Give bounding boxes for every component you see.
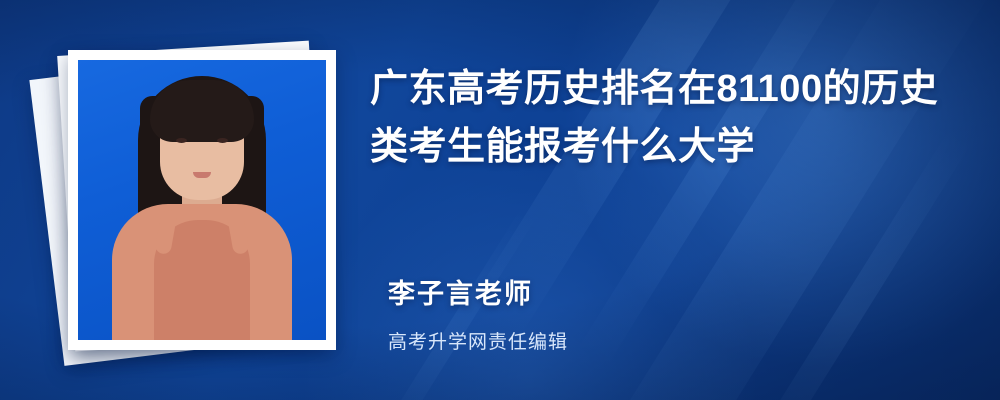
figure-eye-right (217, 138, 228, 143)
portrait-figure (78, 60, 326, 340)
portrait-photo (78, 60, 326, 340)
headline-line-2: 类考生能报考什么大学 (370, 118, 966, 176)
photo-stack (40, 32, 340, 362)
figure-eye-left (176, 138, 187, 143)
photo-card-front (68, 50, 336, 350)
author-block: 李子言老师 高考升学网责任编辑 (388, 272, 948, 354)
figure-hair-front (150, 80, 254, 142)
author-name: 李子言老师 (388, 272, 948, 311)
article-banner: 广东高考历史排名在81100的历史 类考生能报考什么大学 李子言老师 高考升学网… (0, 0, 1000, 400)
headline-line-1: 广东高考历史排名在81100的历史 (370, 60, 966, 118)
author-role: 高考升学网责任编辑 (388, 327, 948, 354)
headline-block: 广东高考历史排名在81100的历史 类考生能报考什么大学 (370, 60, 966, 176)
